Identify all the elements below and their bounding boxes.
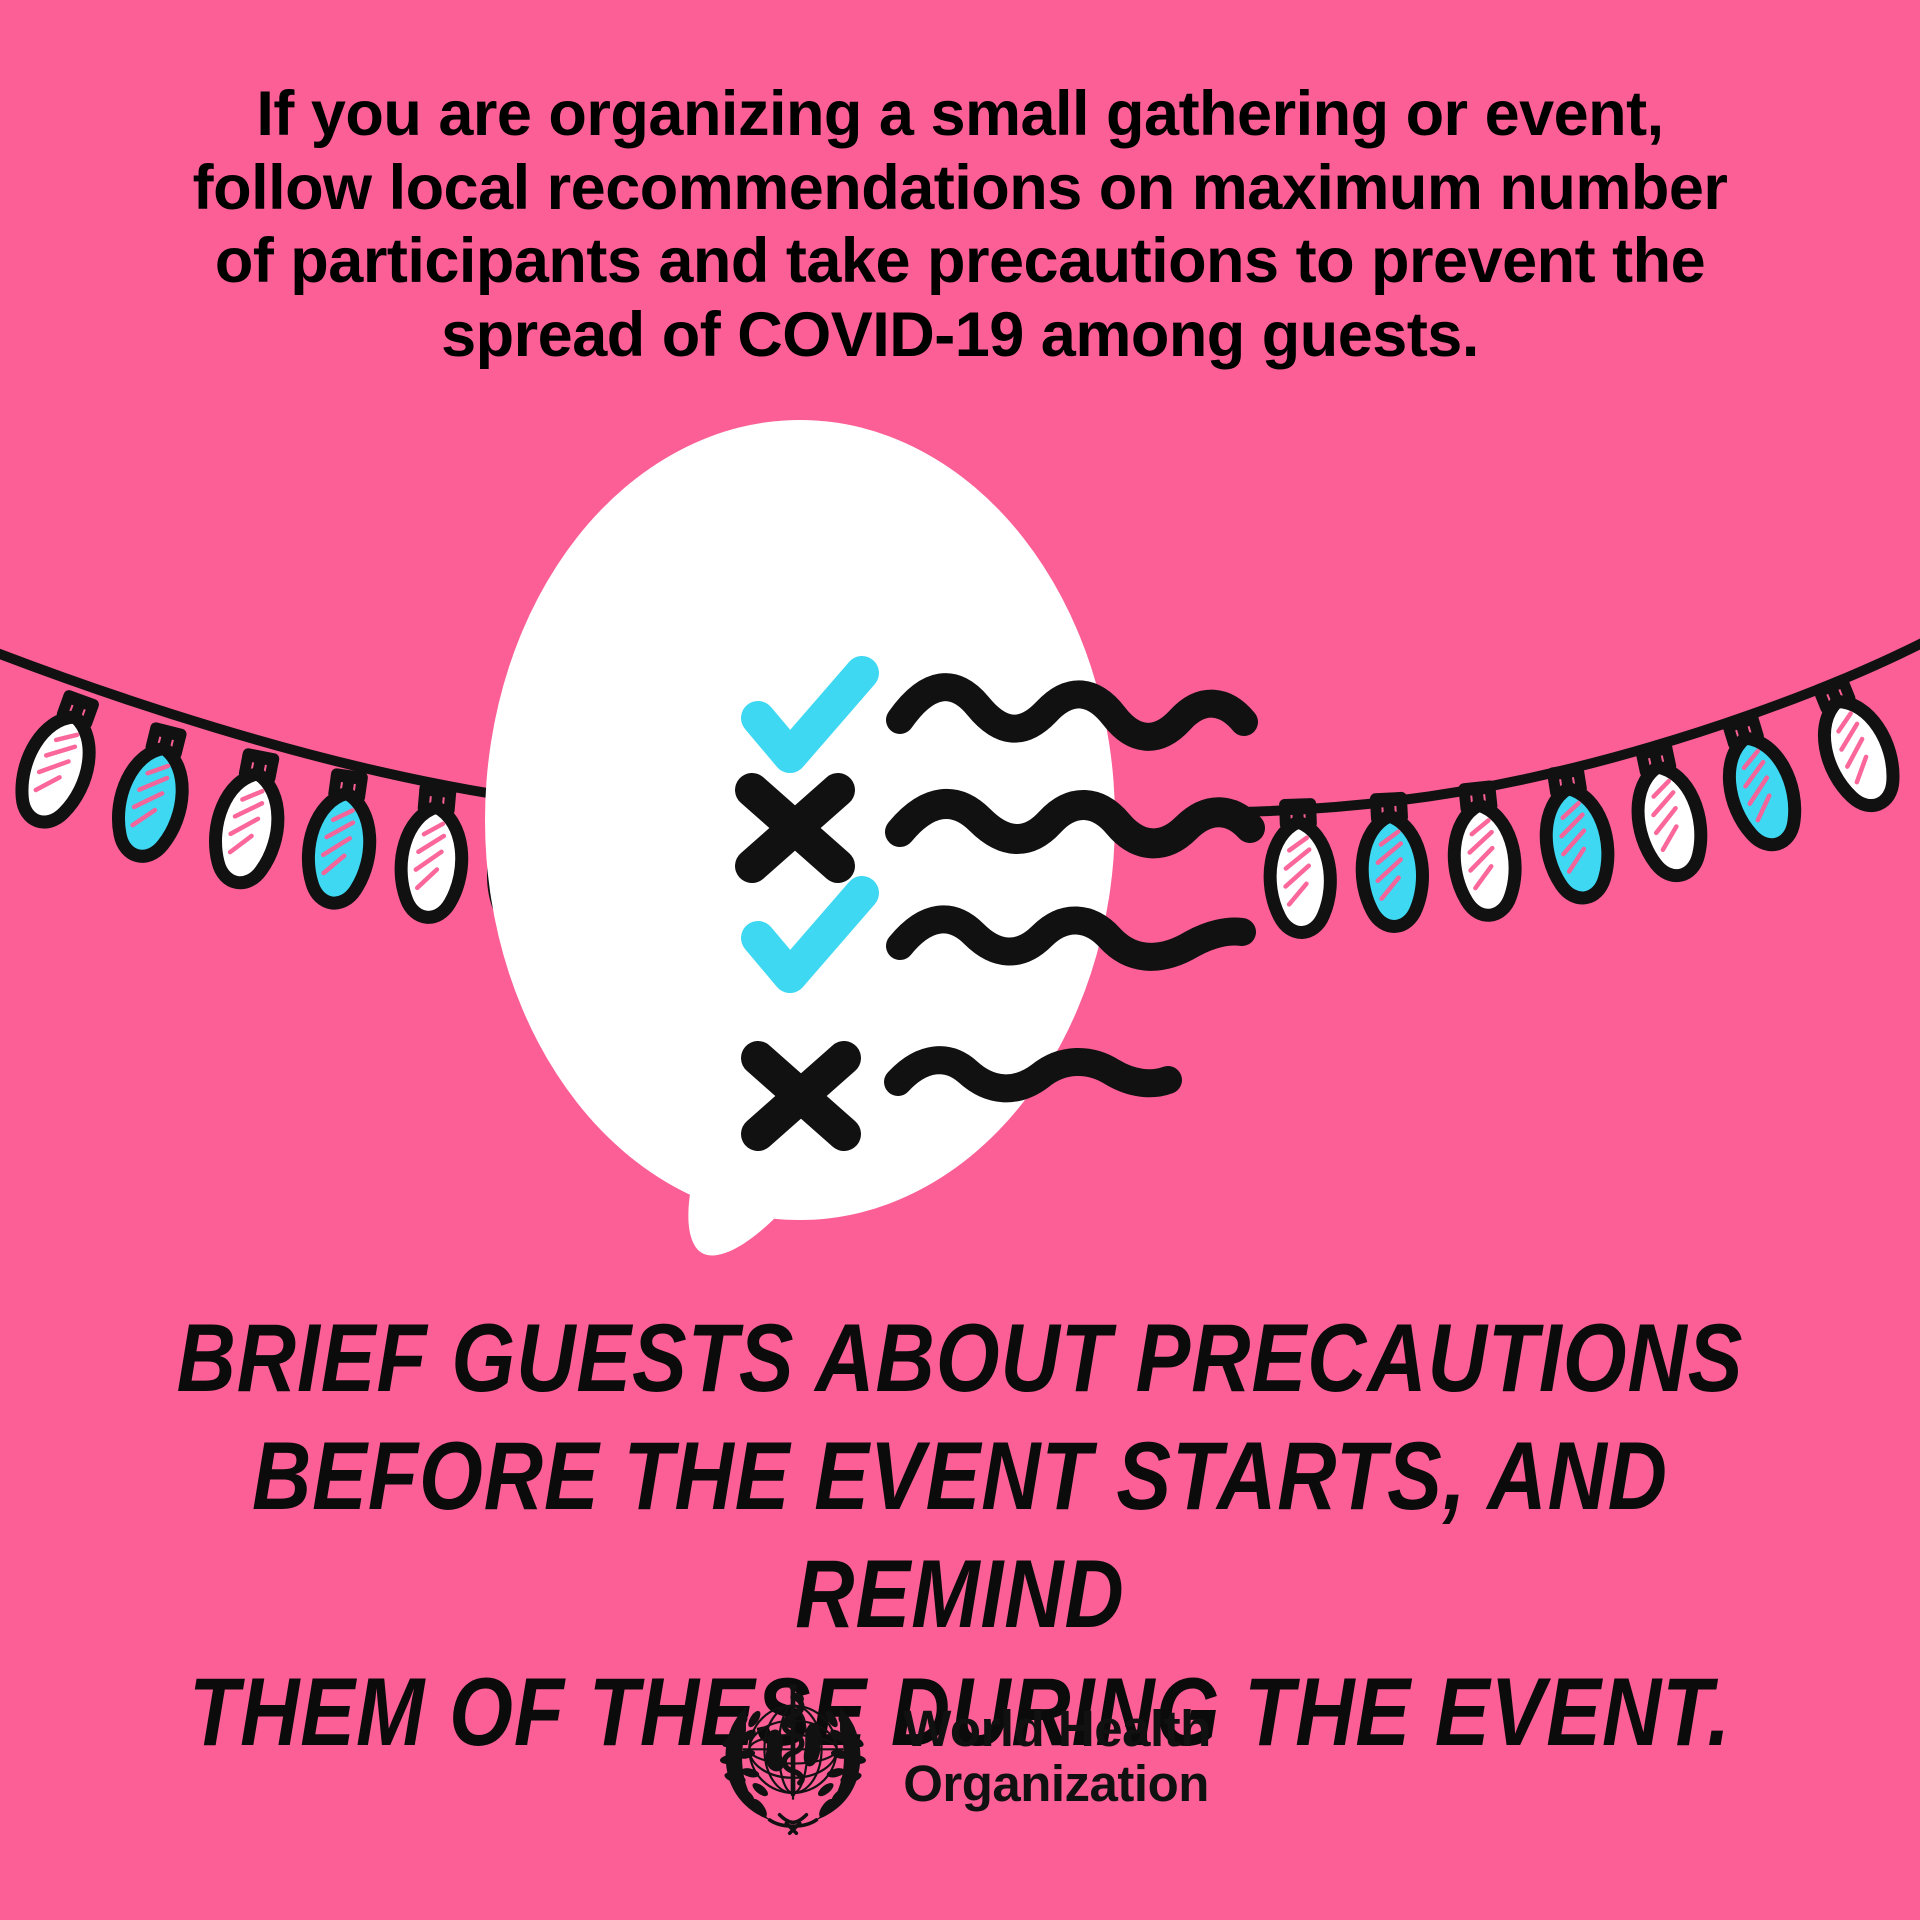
who-emblem-icon bbox=[709, 1672, 877, 1840]
who-logo: World Health Organization bbox=[0, 1672, 1920, 1840]
who-wordmark: World Health Organization bbox=[903, 1701, 1211, 1811]
poster-canvas: If you are organizing a small gathering … bbox=[0, 0, 1920, 1920]
